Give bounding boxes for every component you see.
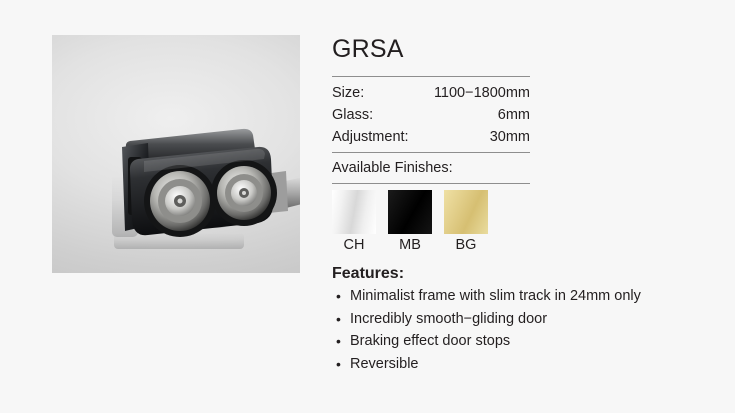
page-title: GRSA	[332, 34, 678, 64]
product-info: GRSA Size: 1100−1800mm Glass: 6mm Adjust…	[332, 34, 678, 375]
swatch-label: MB	[388, 237, 432, 253]
swatch-chrome[interactable]	[332, 190, 376, 234]
finish-option-bg[interactable]: BG	[444, 190, 488, 253]
list-item: Minimalist frame with slim track in 24mm…	[332, 285, 678, 308]
spec-value: 1100−1800mm	[420, 82, 530, 104]
swatch-brushed-gold[interactable]	[444, 190, 488, 234]
list-item: Incredibly smooth−gliding door	[332, 308, 678, 331]
spec-label: Glass:	[332, 104, 420, 126]
spec-value: 6mm	[420, 104, 530, 126]
available-finishes-label: Available Finishes:	[332, 158, 678, 178]
features-heading: Features:	[332, 265, 678, 283]
spec-label: Size:	[332, 82, 420, 104]
table-row: Glass: 6mm	[332, 104, 530, 126]
finish-swatch-row: CH MB BG	[332, 190, 678, 253]
features-list: Minimalist frame with slim track in 24mm…	[332, 285, 678, 375]
swatch-label: BG	[444, 237, 488, 253]
sliding-door-roller-image	[52, 35, 300, 273]
table-row: Size: 1100−1800mm	[332, 82, 530, 104]
table-row: Adjustment: 30mm	[332, 126, 530, 148]
product-image-panel	[52, 35, 300, 273]
list-item: Reversible	[332, 353, 678, 376]
divider-top	[332, 76, 530, 77]
product-spec-page: GRSA Size: 1100−1800mm Glass: 6mm Adjust…	[0, 0, 735, 413]
finish-option-mb[interactable]: MB	[388, 190, 432, 253]
spec-table: Size: 1100−1800mm Glass: 6mm Adjustment:…	[332, 82, 530, 148]
swatch-matt-black[interactable]	[388, 190, 432, 234]
divider-bottom	[332, 183, 530, 184]
divider-mid	[332, 152, 530, 153]
swatch-label: CH	[332, 237, 376, 253]
list-item: Braking effect door stops	[332, 330, 678, 353]
spec-value: 30mm	[420, 126, 530, 148]
finish-option-ch[interactable]: CH	[332, 190, 376, 253]
spec-label: Adjustment:	[332, 126, 420, 148]
